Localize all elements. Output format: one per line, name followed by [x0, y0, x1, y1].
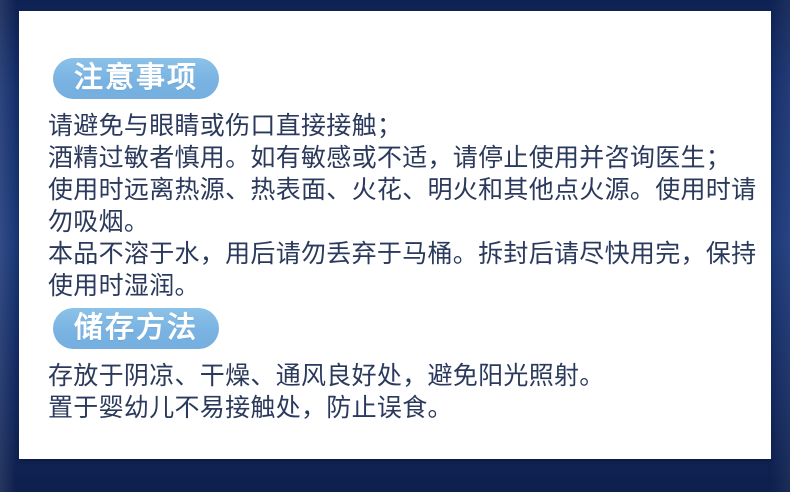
precautions-text-block: 请避免与眼睛或伤口直接接触； 酒精过敏者慎用。如有敏感或不适，请停止使用并咨询医…: [48, 110, 748, 302]
precautions-line-3: 使用时远离热源、热表面、火花、明火和其他点火源。使用时请: [48, 174, 748, 206]
storage-text-block: 存放于阴凉、干燥、通风良好处，避免阳光照射。 置于婴幼儿不易接触处，防止误食。: [48, 360, 748, 424]
precautions-line-4: 勿吸烟。: [48, 206, 748, 238]
white-content-card: 注意事项 请避免与眼睛或伤口直接接触； 酒精过敏者慎用。如有敏感或不适，请停止使…: [19, 11, 771, 459]
section-heading-storage: 储存方法: [53, 308, 219, 349]
precautions-line-6: 使用时湿润。: [48, 270, 748, 302]
precautions-line-2: 酒精过敏者慎用。如有敏感或不适，请停止使用并咨询医生；: [48, 142, 748, 174]
section-heading-precautions: 注意事项: [53, 58, 219, 99]
section-heading-storage-label: 储存方法: [74, 314, 198, 343]
storage-line-1: 存放于阴凉、干燥、通风良好处，避免阳光照射。: [48, 360, 748, 392]
precautions-line-5: 本品不溶于水，用后请勿丢弃于马桶。拆封后请尽快用完，保持: [48, 238, 748, 270]
section-heading-precautions-label: 注意事项: [74, 64, 198, 93]
precautions-line-1: 请避免与眼睛或伤口直接接触；: [48, 110, 748, 142]
product-info-poster: 注意事项 请避免与眼睛或伤口直接接触； 酒精过敏者慎用。如有敏感或不适，请停止使…: [0, 0, 790, 492]
storage-line-2: 置于婴幼儿不易接触处，防止误食。: [48, 392, 748, 424]
